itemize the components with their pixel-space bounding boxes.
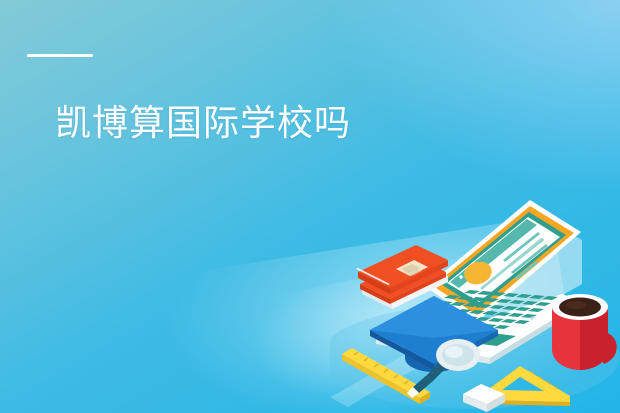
banner-image: 凯博算国际学校吗 (0, 0, 620, 413)
isometric-education-illustration (330, 172, 620, 413)
decorative-underline (27, 54, 93, 57)
coffee-mug (552, 294, 617, 370)
page-title: 凯博算国际学校吗 (55, 102, 351, 143)
background-sky-tint (335, 0, 620, 190)
